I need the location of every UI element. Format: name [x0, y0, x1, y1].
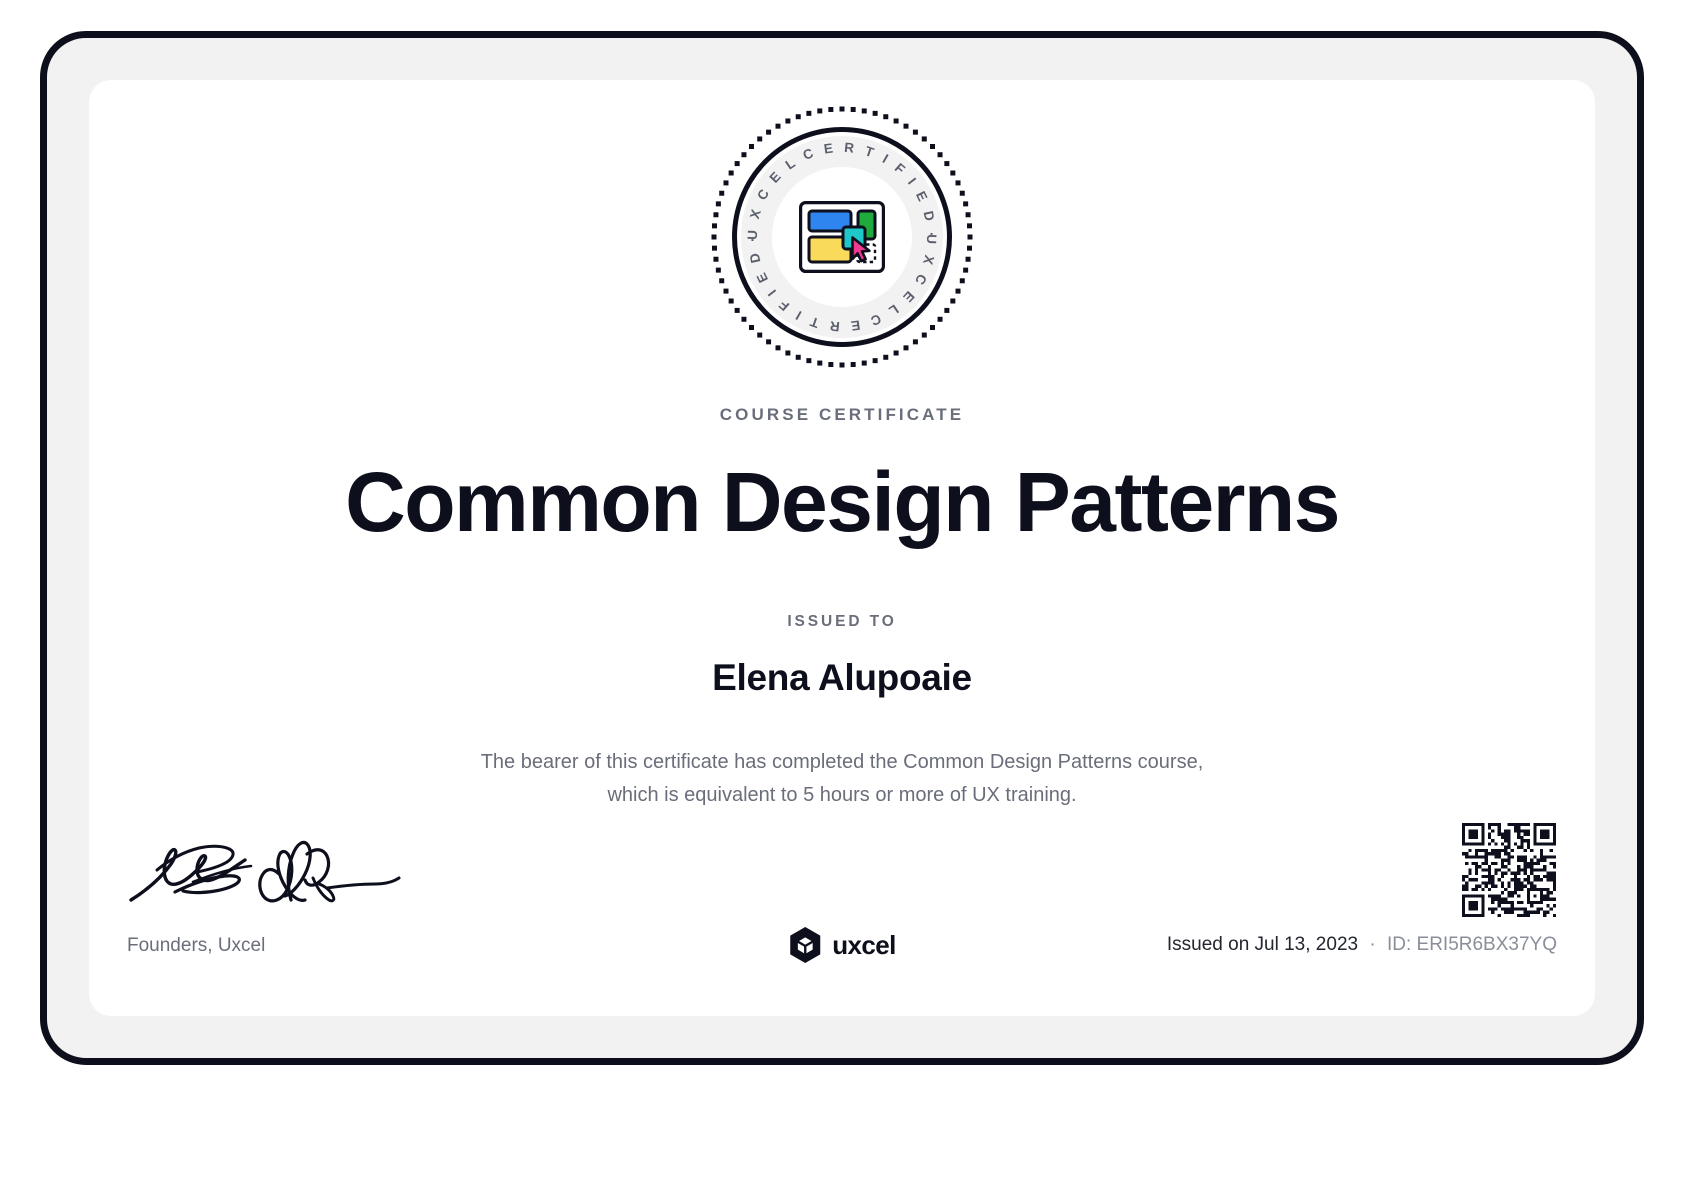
seal-dot [956, 289, 961, 294]
seal-dot [963, 268, 968, 273]
seal-dot [862, 108, 867, 113]
seal-dot [967, 246, 972, 251]
seal-dot [894, 118, 899, 123]
seal-dot [851, 362, 856, 367]
seal-dot [840, 107, 845, 112]
seal-dot [719, 278, 724, 283]
eyebrow-label: COURSE CERTIFICATE [89, 405, 1595, 425]
seal-dot [712, 246, 717, 251]
seal-dot [712, 223, 717, 228]
recipient-name: Elena Alupoaie [89, 657, 1595, 699]
seal-dot [713, 257, 718, 262]
seal-dot [840, 363, 845, 368]
design-layout-cursor-icon [799, 201, 885, 273]
issue-metadata: Issued on Jul 13, 2023 · ID: ERI5R6BX37Y… [1167, 934, 1557, 956]
uxcel-hexagon-icon [788, 926, 822, 964]
seal-dot [713, 212, 718, 217]
seal-dot [806, 111, 811, 116]
seal-dot [873, 358, 878, 363]
certificate-frame: U X C E L C E R T I F I E D · U X C E L … [40, 31, 1644, 1065]
certificate-description: The bearer of this certificate has compl… [472, 746, 1212, 812]
meta-separator: · [1363, 934, 1381, 955]
seal-dot [960, 191, 965, 196]
certification-seal: U X C E L C E R T I F I E D · U X C E L … [711, 106, 973, 368]
seal-dot [966, 257, 971, 262]
seal-dot [828, 107, 833, 112]
seal-dot [817, 108, 822, 113]
certificate-id: ID: ERI5R6BX37YQ [1387, 934, 1557, 955]
seal-dot [828, 362, 833, 367]
seal-dot [968, 235, 973, 240]
seal-dot [883, 355, 888, 360]
seal-dot [817, 361, 822, 366]
seal-dot [796, 114, 801, 119]
seal-dot [966, 212, 971, 217]
seal-dot [723, 289, 728, 294]
seal-dot [785, 118, 790, 123]
seal-dot [716, 201, 721, 206]
issued-to-label: ISSUED TO [89, 613, 1595, 631]
seal-dot [894, 351, 899, 356]
seal-dot [719, 191, 724, 196]
issue-date: Issued on Jul 13, 2023 [1167, 934, 1358, 955]
seal-dot [960, 278, 965, 283]
certificate-card: U X C E L C E R T I F I E D · U X C E L … [89, 80, 1595, 1016]
founders-label: Founders, Uxcel [127, 935, 265, 957]
seal-dot [873, 111, 878, 116]
seal-dot [796, 355, 801, 360]
seal-dot [883, 114, 888, 119]
verification-qr-code[interactable] [1462, 823, 1556, 917]
seal-dot [785, 351, 790, 356]
seal-dot [963, 201, 968, 206]
seal-dot [851, 107, 856, 112]
seal-dot [712, 235, 717, 240]
uxcel-brand-name: uxcel [832, 930, 896, 961]
founder-signatures [127, 830, 417, 916]
seal-dot [723, 180, 728, 185]
course-title: Common Design Patterns [89, 454, 1595, 550]
seal-dot [956, 180, 961, 185]
uxcel-brand-logo: uxcel [788, 926, 896, 964]
seal-dot [716, 268, 721, 273]
seal-dot [806, 358, 811, 363]
seal-dot [967, 223, 972, 228]
seal-dot [862, 361, 867, 366]
